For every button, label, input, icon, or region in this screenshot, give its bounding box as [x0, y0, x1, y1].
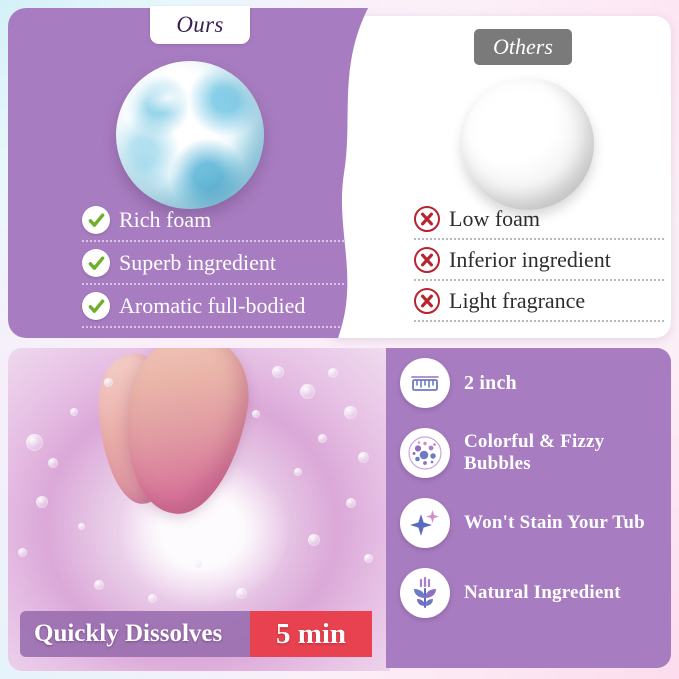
bubbles-dots-icon	[400, 428, 450, 478]
sparkle-icon	[400, 498, 450, 548]
others-badge: Others	[474, 29, 572, 65]
list-item: Rich foam	[82, 206, 344, 242]
wheat-plant-icon	[400, 568, 450, 618]
dissolve-label: Quickly Dissolves	[20, 611, 250, 657]
feature-label: Low foam	[449, 206, 540, 232]
ours-panel: Rich foam Superb ingredient	[8, 8, 368, 338]
ruler-icon	[400, 358, 450, 408]
red-x-icon	[414, 206, 440, 232]
feature-label: Superb ingredient	[119, 250, 276, 276]
spec-item-no-stain: Won't Stain Your Tub	[386, 488, 671, 558]
feature-label: Rich foam	[119, 207, 211, 233]
feature-label: Light fragrance	[449, 288, 585, 314]
others-feature-list: Low foam Inferior ingredient	[414, 206, 664, 329]
spec-label: 2 inch	[464, 372, 517, 395]
green-check-icon	[82, 249, 110, 277]
green-check-icon	[82, 292, 110, 320]
spec-label: Colorful & Fizzy Bubbles	[464, 431, 671, 475]
infographic-root: Low foam Inferior ingredient	[0, 0, 679, 679]
list-item: Superb ingredient	[82, 249, 344, 285]
dissolving-bath-bomb-photo: Quickly Dissolves 5 min	[8, 348, 390, 671]
others-product-image	[462, 78, 594, 210]
red-x-icon	[414, 288, 440, 314]
list-item: Low foam	[414, 206, 664, 240]
list-item: Inferior ingredient	[414, 247, 664, 281]
spec-item-natural: Natural Ingredient	[386, 558, 671, 628]
spec-label: Natural Ingredient	[464, 582, 621, 604]
spec-item-size: 2 inch	[386, 348, 671, 418]
bottom-section: Quickly Dissolves 5 min 2 inch	[8, 348, 671, 671]
spec-item-bubbles: Colorful & Fizzy Bubbles	[386, 418, 671, 488]
comparison-section: Low foam Inferior ingredient	[8, 8, 671, 338]
red-x-icon	[414, 247, 440, 273]
ours-feature-list: Rich foam Superb ingredient	[82, 206, 344, 335]
spec-label: Won't Stain Your Tub	[464, 512, 645, 534]
ours-badge: Ours	[150, 6, 250, 44]
list-item: Light fragrance	[414, 288, 664, 322]
feature-label: Aromatic full-bodied	[119, 293, 305, 319]
ours-product-image	[116, 61, 264, 209]
green-check-icon	[82, 206, 110, 234]
specs-panel: 2 inch	[386, 348, 671, 668]
list-item: Aromatic full-bodied	[82, 292, 344, 328]
dissolve-time-badge: 5 min	[250, 611, 372, 657]
quickly-dissolves-banner: Quickly Dissolves 5 min	[20, 611, 372, 657]
feature-label: Inferior ingredient	[449, 247, 611, 273]
